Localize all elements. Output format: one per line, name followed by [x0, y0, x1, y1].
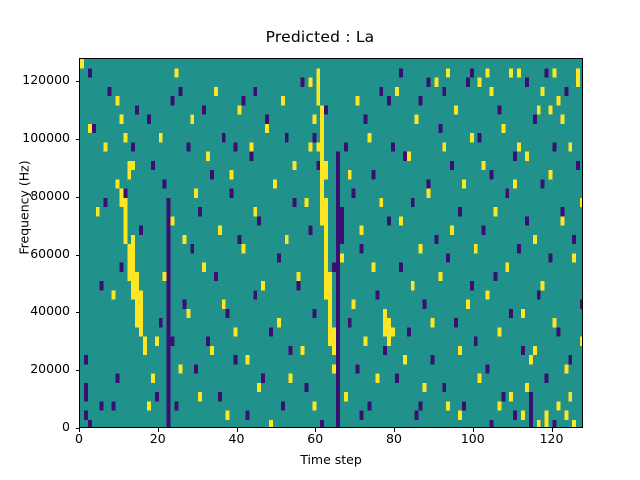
y-tick-label: 40000: [0, 305, 70, 317]
x-tick-label: 60: [285, 432, 345, 446]
x-tick-label: 40: [207, 432, 267, 446]
x-tick-label: 20: [128, 432, 188, 446]
x-axis-label: Time step: [79, 452, 583, 467]
x-tick-label: 100: [443, 432, 503, 446]
y-tick-mark: [76, 197, 80, 198]
y-tick-label: 100000: [0, 132, 70, 144]
y-tick-label: 120000: [0, 74, 70, 86]
x-tick-label: 80: [364, 432, 424, 446]
x-tick-label: 0: [49, 432, 109, 446]
y-tick-mark: [76, 370, 80, 371]
y-axis-label: Frequency (Hz): [17, 128, 32, 288]
y-tick-label: 80000: [0, 190, 70, 202]
heatmap-plot-area: [79, 58, 583, 428]
y-tick-mark: [76, 81, 80, 82]
y-tick-label: 60000: [0, 248, 70, 260]
y-tick-mark: [76, 255, 80, 256]
heatmap-image: [80, 59, 583, 428]
y-tick-mark: [76, 312, 80, 313]
y-tick-label: 20000: [0, 363, 70, 375]
matplotlib-figure: Predicted : La Frequency (Hz) Time step …: [0, 0, 640, 480]
y-tick-mark: [76, 139, 80, 140]
chart-title: Predicted : La: [0, 28, 640, 46]
x-tick-label: 120: [522, 432, 582, 446]
